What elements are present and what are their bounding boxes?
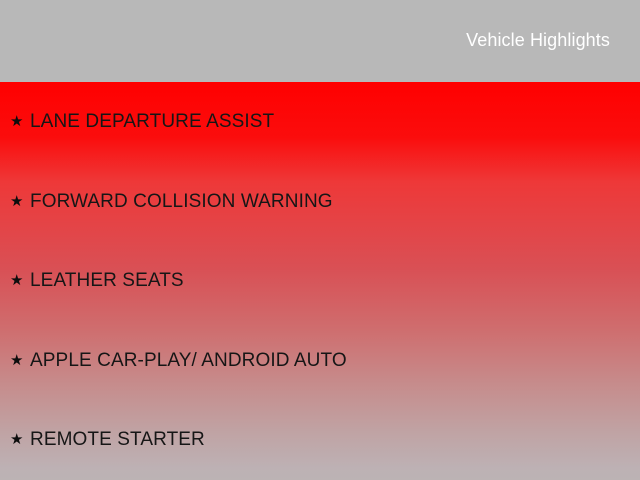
- star-icon: ★: [10, 269, 24, 293]
- list-item: ★ LEATHER SEATS: [10, 269, 184, 293]
- page-title: Vehicle Highlights: [466, 29, 610, 51]
- highlights-panel: ★ LANE DEPARTURE ASSIST ★ FORWARD COLLIS…: [0, 82, 640, 480]
- star-icon: ★: [10, 349, 24, 373]
- highlight-label: REMOTE STARTER: [30, 428, 205, 452]
- star-icon: ★: [10, 428, 24, 452]
- star-icon: ★: [10, 190, 24, 214]
- list-item: ★ REMOTE STARTER: [10, 428, 205, 452]
- list-item: ★ APPLE CAR-PLAY/ ANDROID AUTO: [10, 349, 347, 373]
- star-icon: ★: [10, 110, 24, 134]
- highlight-label: LEATHER SEATS: [30, 269, 184, 293]
- header-band: Vehicle Highlights: [0, 0, 640, 82]
- list-item: ★ LANE DEPARTURE ASSIST: [10, 110, 274, 134]
- list-item: ★ FORWARD COLLISION WARNING: [10, 190, 333, 214]
- highlight-label: LANE DEPARTURE ASSIST: [30, 110, 274, 134]
- highlight-label: APPLE CAR-PLAY/ ANDROID AUTO: [30, 349, 347, 373]
- vehicle-highlights-slide: Vehicle Highlights ★ LANE DEPARTURE ASSI…: [0, 0, 640, 480]
- highlight-label: FORWARD COLLISION WARNING: [30, 190, 333, 214]
